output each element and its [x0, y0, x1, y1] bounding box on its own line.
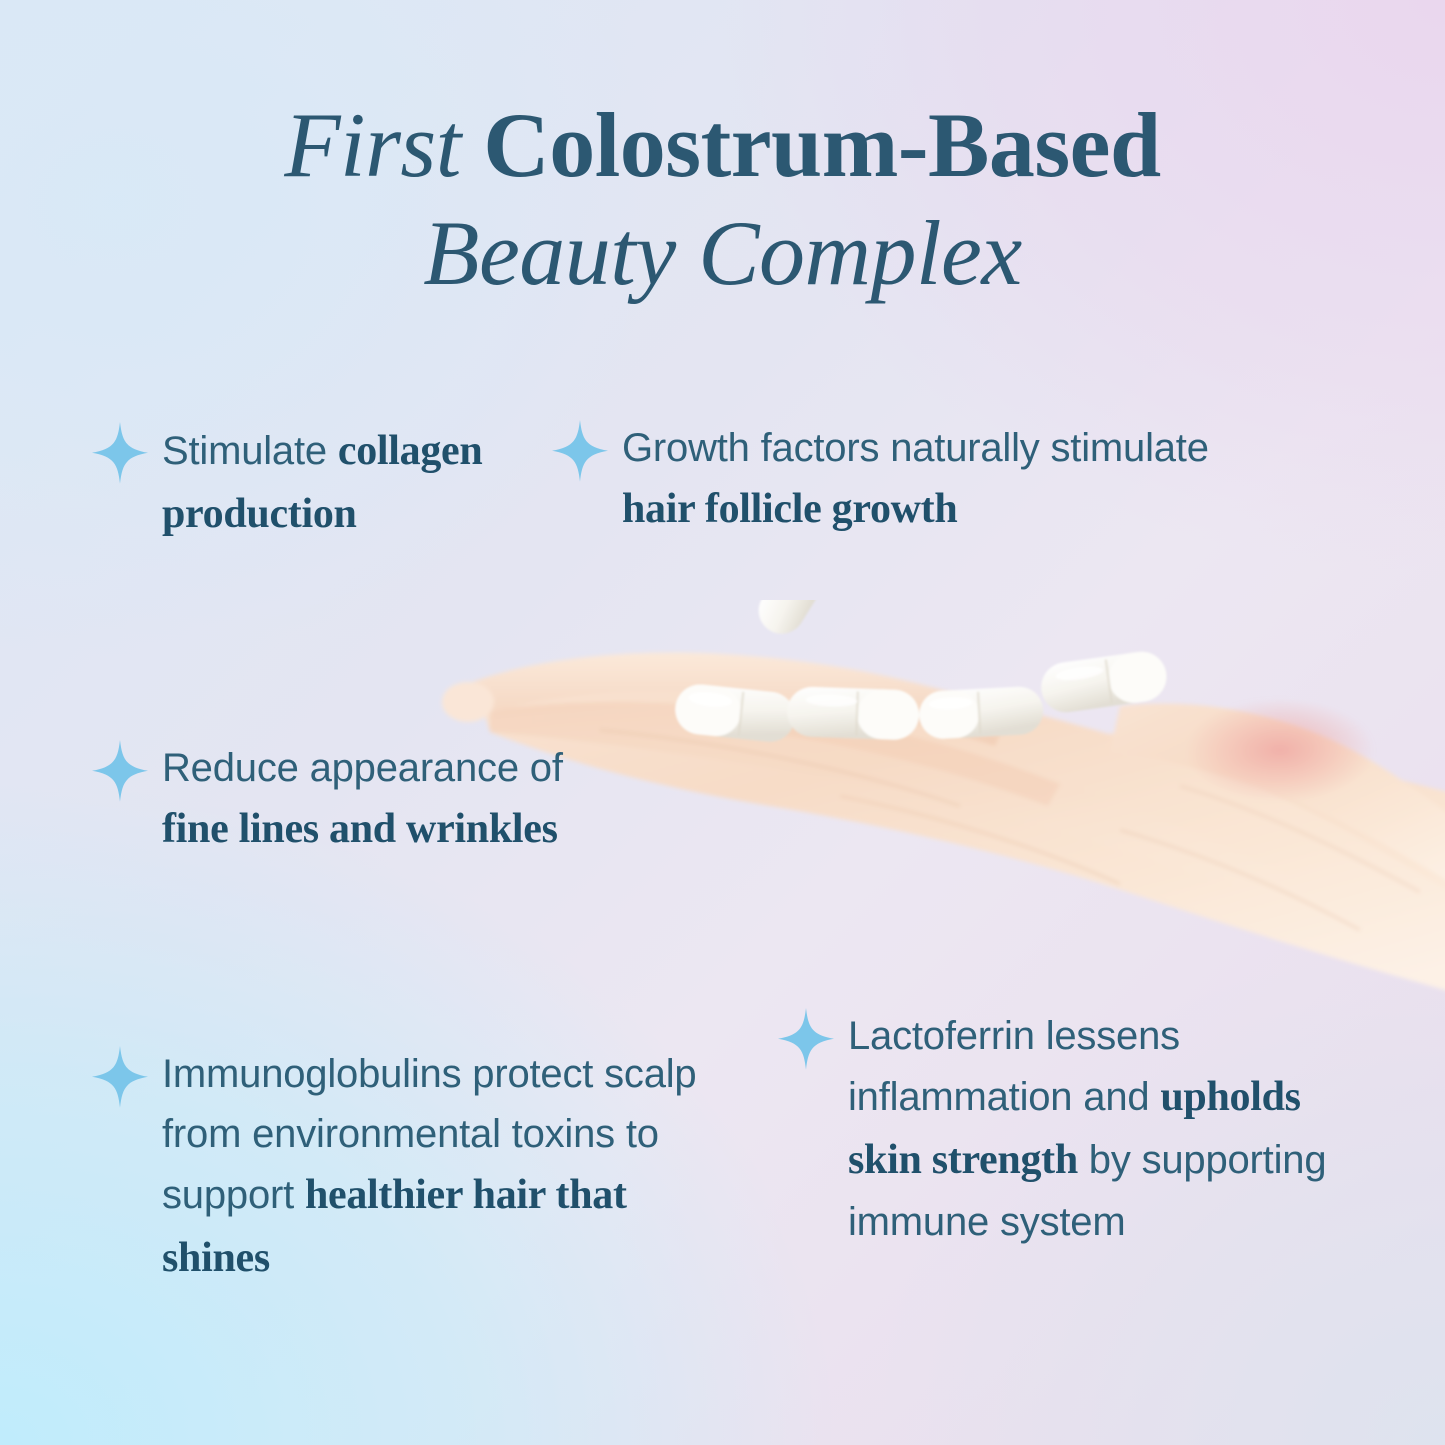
page-title: First Colostrum-Based Beauty Complex [0, 96, 1445, 303]
sparkle-icon [92, 422, 148, 484]
benefit-text-scalp: Immunoglobulins protect scalp from envir… [162, 1044, 712, 1290]
poster-canvas: First Colostrum-Based Beauty Complex [0, 0, 1445, 1445]
benefit-lead: Growth factors naturally stimulate [622, 426, 1209, 470]
benefit-item-hair-follicle: Growth factors naturally stimulate hair … [552, 418, 1252, 541]
benefit-text-hair-follicle: Growth factors naturally stimulate hair … [622, 418, 1252, 541]
benefit-text-lactoferrin: Lactoferrin lessens inflammation and uph… [848, 1006, 1338, 1252]
benefit-emphasis: fine lines and wrinkles [162, 806, 558, 852]
benefit-lead: Lactoferrin lessens inflammation and [848, 1014, 1180, 1119]
title-line-2: Beauty Complex [0, 204, 1445, 302]
title-word-first: First [284, 94, 483, 196]
benefit-item-lactoferrin: Lactoferrin lessens inflammation and uph… [778, 1006, 1338, 1252]
title-word-colostrum-based: Colostrum-Based [483, 94, 1160, 196]
sparkle-icon [92, 740, 148, 802]
benefit-lead: Stimulate [162, 429, 338, 473]
benefit-item-collagen: Stimulate collagen production [92, 420, 512, 546]
benefit-emphasis: hair follicle growth [622, 486, 957, 532]
sparkle-icon [92, 1046, 148, 1108]
benefit-text-wrinkles: Reduce appearance of fine lines and wrin… [162, 738, 592, 861]
benefit-item-scalp: Immunoglobulins protect scalp from envir… [92, 1044, 712, 1290]
title-line-1: First Colostrum-Based [0, 96, 1445, 194]
benefit-lead: Reduce appearance of [162, 746, 563, 790]
sparkle-icon [552, 420, 608, 482]
benefit-item-wrinkles: Reduce appearance of fine lines and wrin… [92, 738, 592, 861]
benefit-text-collagen: Stimulate collagen production [162, 420, 512, 546]
sparkle-icon [778, 1008, 834, 1070]
